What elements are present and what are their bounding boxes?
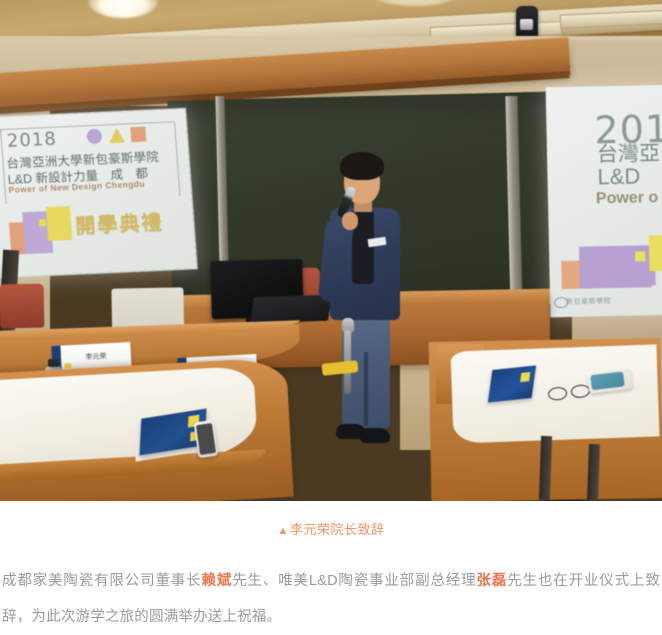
booklet-accent — [520, 372, 530, 382]
slide-logo-shape — [8, 206, 73, 255]
paragraph-segment-2: 先生、唯美L&D陶瓷事业部副总经理 — [232, 573, 476, 589]
slide-headline: 開學典禮 — [74, 206, 164, 239]
photo-scene: 2018 台灣亞洲大學新包豪斯學院 L&D 新設計力量 成 都 Power of… — [0, 0, 662, 501]
triangle-shape-icon — [108, 128, 125, 144]
smartphone-case — [590, 371, 625, 390]
slide-line-english: Power o — [596, 189, 659, 208]
photo-caption: ▲李元荣院长致辞 — [0, 501, 662, 538]
article-container: 2018 台灣亞洲大學新包豪斯學院 L&D 新設計力量 成 都 Power of… — [0, 0, 662, 635]
smartphone-screen — [196, 423, 216, 455]
slide-left: 2018 台灣亞洲大學新包豪斯學院 L&D 新設計力量 成 都 Power of… — [0, 109, 197, 277]
speaker-person — [316, 152, 412, 452]
slide-line-ld: L&D — [597, 163, 640, 190]
name-card-accent — [64, 363, 71, 368]
desk-leg — [587, 444, 600, 500]
projection-screen-right: 201 台灣亞 L&D Power o 新包豪斯學院 — [546, 85, 662, 318]
highlighted-name-2: 张磊 — [477, 573, 508, 589]
highlighted-name-1: 赖斌 — [202, 573, 233, 589]
event-photo: 2018 台灣亞洲大學新包豪斯學院 L&D 新設計力量 成 都 Power of… — [0, 0, 662, 501]
blue-booklet — [488, 365, 536, 402]
square-shape-icon — [130, 127, 146, 143]
speaker-leg-split — [364, 352, 368, 426]
red-chair — [0, 284, 44, 329]
slide-year: 2018 — [6, 129, 57, 152]
speaker-hair — [340, 152, 384, 180]
projection-screen-left: 2018 台灣亞洲大學新包豪斯學院 L&D 新設計力量 成 都 Power of… — [0, 108, 198, 279]
name-card-label: 李元荣 — [85, 351, 106, 362]
speaker-hand — [342, 212, 358, 230]
paragraph-segment-1: 成都家美陶瓷有限公司董事长 — [2, 573, 202, 589]
article-paragraph: 成都家美陶瓷有限公司董事长赖斌先生、唯美L&D陶瓷事业部副总经理张磊先生也在开业… — [0, 538, 662, 635]
desk-leg — [539, 436, 552, 500]
slide-logo-text: 新包豪斯學院 — [566, 296, 611, 307]
triangle-marker-icon: ▲ — [278, 525, 289, 537]
slide-logo-shape — [561, 235, 662, 293]
photo-caption-text: 李元荣院长致辞 — [290, 522, 385, 537]
slide-right: 201 台灣亞 L&D Power o 新包豪斯學院 — [546, 85, 662, 318]
speaker-shoe — [360, 428, 390, 443]
